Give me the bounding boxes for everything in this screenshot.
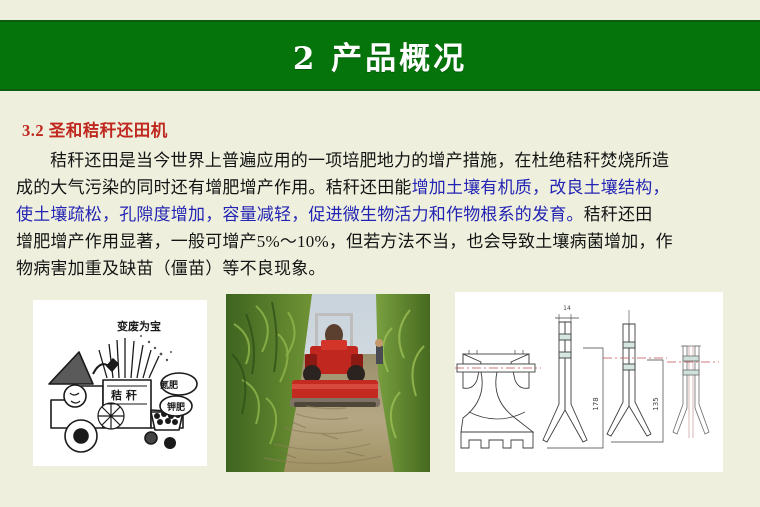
straw-recycling-cartoon-image: 变废为宝 秸 秆 氮肥 钾肥 xyxy=(33,300,207,466)
section-subheading: 3.2 圣和秸秆还田机 xyxy=(22,117,168,141)
paragraph-line-5: 物病害加重及缺苗（僵苗）等不良现象。 xyxy=(16,255,748,282)
text-segment: 物病害加重及缺苗（僵苗）等不良现象。 xyxy=(16,259,326,278)
dimension-label-135: 135 xyxy=(652,397,660,410)
cartoon-label-main: 变废为宝 xyxy=(117,319,161,333)
paragraph-line-4: 增肥增产作用显著，一般可增产5%～10%，但若方法不当，也会导致土壤病菌增加，作 xyxy=(16,228,748,255)
slide-title-banner: 2 产品概况 xyxy=(0,20,760,91)
text-segment: 成的大气污染的同时还有增肥增产作用。秸秆还田能 xyxy=(16,178,412,197)
text-segment: 秸秆还田是当今世界上普遍应用的一项培肥地力的增产措施，在杜绝秸秆焚烧所造 xyxy=(50,151,669,170)
text-segment: 增肥增产作用显著，一般可增产5%～10%，但若方法不当，也会导致土壤病菌增加，作 xyxy=(16,232,673,251)
body-paragraph: 秸秆还田是当今世界上普遍应用的一项培肥地力的增产措施，在杜绝秸秆焚烧所造 成的大… xyxy=(16,147,748,282)
page-title: 2 产品概况 xyxy=(293,33,467,78)
cartoon-illustration: 变废为宝 秸 秆 氮肥 钾肥 xyxy=(33,300,207,466)
cartoon-label-nitrogen: 氮肥 xyxy=(160,379,178,391)
dimension-tick-label: 14 xyxy=(563,305,571,312)
cartoon-label-potash: 钾肥 xyxy=(167,401,185,413)
dimension-label-178: 178 xyxy=(592,397,600,410)
cad-drawing: 178 14 135 xyxy=(455,292,723,472)
text-segment-highlight: 使土壤疏松，孔隙度增加，容量减轻，促进微生物活力和作物根系的发育。 xyxy=(16,205,584,224)
tractor-in-cornfield-photo xyxy=(226,294,430,472)
paragraph-line-3: 使土壤疏松，孔隙度增加，容量减轻，促进微生物活力和作物根系的发育。秸秆还田 xyxy=(16,201,748,228)
field-photograph xyxy=(226,294,430,472)
blade-technical-drawing-image: 178 14 135 xyxy=(455,292,723,472)
cartoon-label-straw: 秸 秆 xyxy=(111,388,137,402)
text-segment-highlight: 增加土壤有机质，改良土壤结构， xyxy=(412,178,670,197)
text-segment: 秸秆还田 xyxy=(584,205,653,224)
paragraph-line-2: 成的大气污染的同时还有增肥增产作用。秸秆还田能增加土壤有机质，改良土壤结构， xyxy=(16,174,748,201)
paragraph-line-1: 秸秆还田是当今世界上普遍应用的一项培肥地力的增产措施，在杜绝秸秆焚烧所造 xyxy=(16,147,748,174)
